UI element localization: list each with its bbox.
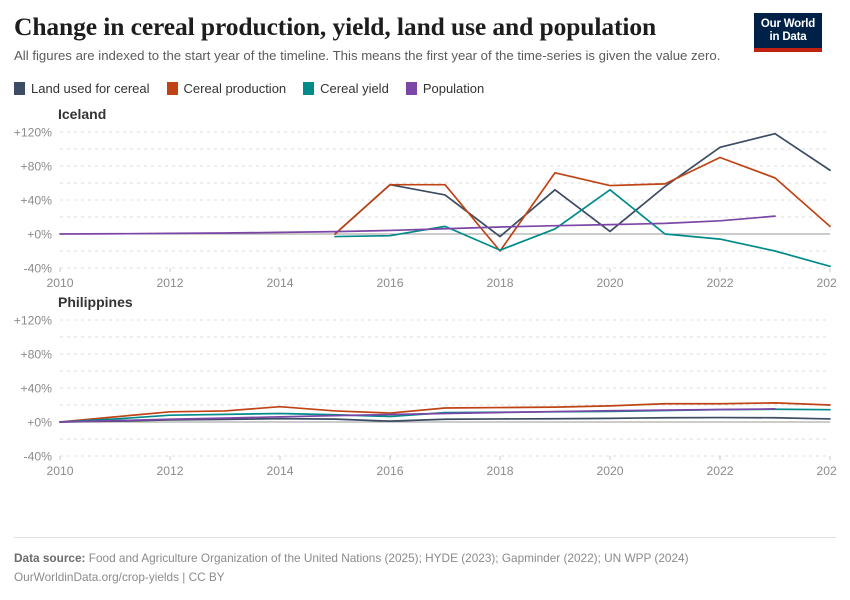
y-axis-tick-label: +120%	[14, 126, 52, 140]
x-axis-tick-label: 2022	[706, 464, 733, 478]
legend-item-label: Land used for cereal	[31, 81, 150, 96]
legend-item-label: Cereal yield	[320, 81, 389, 96]
owid-chart-page: Change in cereal production, yield, land…	[0, 0, 850, 600]
legend-item[interactable]: Land used for cereal	[14, 81, 150, 96]
owid-logo-line1: Our World	[756, 18, 820, 31]
owid-logo[interactable]: Our World in Data	[754, 13, 822, 52]
chart-footer: Data source: Food and Agriculture Organi…	[14, 537, 836, 586]
data-source-label: Data source:	[14, 551, 85, 565]
x-axis-tick-label: 2018	[486, 276, 513, 290]
y-axis-tick-label: +80%	[20, 348, 52, 362]
x-axis-tick-label: 2022	[706, 276, 733, 290]
x-axis-tick-label: 2012	[156, 464, 183, 478]
legend-item[interactable]: Cereal production	[167, 81, 287, 96]
y-axis-tick-label: -40%	[24, 262, 53, 276]
x-axis-tick-label: 2018	[486, 464, 513, 478]
plot-area[interactable]: -40%+0%+40%+80%+120%20102012201420162018…	[14, 312, 836, 482]
facet-container: Iceland-40%+0%+40%+80%+120%2010201220142…	[14, 106, 836, 482]
y-axis-tick-label: +0%	[27, 228, 52, 242]
legend-item-label: Population	[423, 81, 484, 96]
data-source-text: Food and Agriculture Organization of the…	[89, 551, 689, 565]
legend-item[interactable]: Population	[406, 81, 484, 96]
x-axis-tick-label: 2014	[266, 464, 293, 478]
plot-area[interactable]: -40%+0%+40%+80%+120%20102012201420162018…	[14, 124, 836, 294]
facet-title: Iceland	[58, 106, 836, 122]
facet-philippines: Philippines-40%+0%+40%+80%+120%201020122…	[14, 294, 836, 482]
x-axis-tick-label: 2020	[596, 276, 623, 290]
x-axis-tick-label: 2010	[46, 464, 73, 478]
legend-swatch-icon	[14, 82, 25, 95]
series-line[interactable]	[335, 158, 830, 252]
facet-title: Philippines	[58, 294, 836, 310]
x-axis-tick-label: 2016	[376, 464, 403, 478]
page-title: Change in cereal production, yield, land…	[14, 12, 836, 42]
owid-logo-line2: in Data	[756, 31, 820, 44]
chart-subtitle: All figures are indexed to the start yea…	[14, 47, 744, 65]
facet-iceland: Iceland-40%+0%+40%+80%+120%2010201220142…	[14, 106, 836, 294]
series-line[interactable]	[335, 190, 830, 266]
y-axis-tick-label: +80%	[20, 160, 52, 174]
legend-swatch-icon	[406, 82, 417, 95]
y-axis-tick-label: -40%	[24, 450, 53, 464]
x-axis-tick-label: 2010	[46, 276, 73, 290]
y-axis-tick-label: +40%	[20, 194, 52, 208]
x-axis-tick-label: 2014	[266, 276, 293, 290]
chart-header: Change in cereal production, yield, land…	[14, 0, 836, 65]
x-axis-tick-label: 2020	[596, 464, 623, 478]
legend-item-label: Cereal production	[184, 81, 287, 96]
x-axis-tick-label: 2024	[816, 464, 836, 478]
x-axis-tick-label: 2024	[816, 276, 836, 290]
legend-item[interactable]: Cereal yield	[303, 81, 389, 96]
legend-swatch-icon	[303, 82, 314, 95]
y-axis-tick-label: +120%	[14, 314, 52, 328]
x-axis-tick-label: 2012	[156, 276, 183, 290]
y-axis-tick-label: +0%	[27, 416, 52, 430]
x-axis-tick-label: 2016	[376, 276, 403, 290]
chart-legend: Land used for cerealCereal productionCer…	[14, 81, 836, 96]
legend-swatch-icon	[167, 82, 178, 95]
data-source-line: Data source: Food and Agriculture Organi…	[14, 549, 836, 567]
license-line[interactable]: OurWorldinData.org/crop-yields | CC BY	[14, 568, 836, 586]
y-axis-tick-label: +40%	[20, 382, 52, 396]
